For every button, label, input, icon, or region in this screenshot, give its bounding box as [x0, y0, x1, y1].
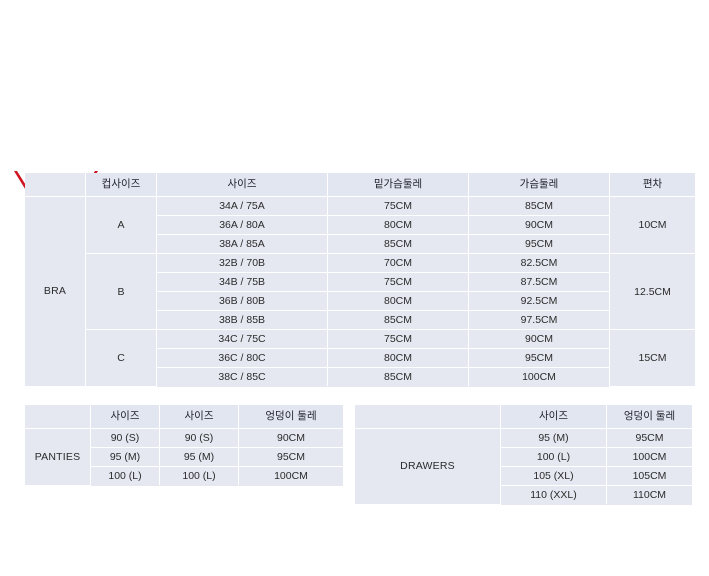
header-cell-bust: 가슴둘레: [469, 173, 610, 197]
hip-cell: 110CM: [607, 486, 693, 505]
underbust-cell: 80CM: [328, 349, 469, 368]
underbust-cell: 80CM: [328, 292, 469, 311]
size-b-cell: 90 (S): [160, 429, 239, 448]
header-cell-size-b: 사이즈: [160, 405, 239, 429]
table-row: C 34C / 75C 75CM 90CM 15CM: [25, 330, 695, 349]
underbust-cell: 75CM: [328, 330, 469, 349]
size-b-cell: 100 (L): [160, 467, 239, 486]
underbust-cell: 85CM: [328, 311, 469, 330]
hip-cell: 100CM: [607, 448, 693, 467]
hip-cell: 95CM: [607, 429, 693, 448]
bust-cell: 92.5CM: [469, 292, 610, 311]
hip-cell: 100CM: [239, 467, 344, 486]
bust-cell: 85CM: [469, 197, 610, 216]
bust-cell: 90CM: [469, 330, 610, 349]
page-header: GUESS ® U.S.A. ▲ ▲ ? BRA SIZE CHART GUES…: [0, 85, 709, 160]
table-header-row: 사이즈 사이즈 엉덩이 둘레: [25, 405, 343, 429]
header-cell-deviation: 편차: [610, 173, 696, 197]
size-cell: 38A / 85A: [157, 235, 328, 254]
table-row: DRAWERS 95 (M) 95CM: [355, 429, 692, 448]
size-b-cell: 95 (M): [160, 448, 239, 467]
header-cell-blank: [25, 173, 86, 197]
header-cell-size-a: 사이즈: [91, 405, 160, 429]
underbust-cell: 80CM: [328, 216, 469, 235]
size-cell: 38C / 85C: [157, 368, 328, 387]
table-row: PANTIES 90 (S) 90 (S) 90CM: [25, 429, 343, 448]
bust-cell: 90CM: [469, 216, 610, 235]
size-cell: 110 (XXL): [501, 486, 607, 505]
header-cell-hip: 엉덩이 둘레: [239, 405, 344, 429]
bust-cell: 100CM: [469, 368, 610, 387]
cup-cell-c: C: [86, 330, 157, 387]
size-cell: 34A / 75A: [157, 197, 328, 216]
underbust-cell: 75CM: [328, 273, 469, 292]
header-cell-size: 사이즈: [157, 173, 328, 197]
bust-cell: 87.5CM: [469, 273, 610, 292]
cup-cell-b: B: [86, 254, 157, 330]
table-row: BRA A 34A / 75A 75CM 85CM 10CM: [25, 197, 695, 216]
header-cell-underbust: 밑가슴둘레: [328, 173, 469, 197]
deviation-cell-b: 12.5CM: [610, 254, 696, 330]
drawers-size-table: 사이즈 엉덩이 둘레 DRAWERS 95 (M) 95CM 100 (L) 1…: [355, 405, 692, 505]
hip-cell: 90CM: [239, 429, 344, 448]
category-cell-drawers: DRAWERS: [355, 429, 501, 505]
size-cell: 36C / 80C: [157, 349, 328, 368]
size-a-cell: 90 (S): [91, 429, 160, 448]
size-cell: 34B / 75B: [157, 273, 328, 292]
size-cell: 34C / 75C: [157, 330, 328, 349]
underbust-cell: 85CM: [328, 368, 469, 387]
category-cell-bra: BRA: [25, 197, 86, 387]
size-a-cell: 95 (M): [91, 448, 160, 467]
underbust-cell: 85CM: [328, 235, 469, 254]
size-cell: 36B / 80B: [157, 292, 328, 311]
header-cell-cup-size: 컵사이즈: [86, 173, 157, 197]
cup-cell-a: A: [86, 197, 157, 254]
category-cell-panties: PANTIES: [25, 429, 91, 486]
bra-size-table: 컵사이즈 사이즈 밑가슴둘레 가슴둘레 편차 BRA A 34A / 75A 7…: [25, 173, 695, 387]
header-cell-hip: 엉덩이 둘레: [607, 405, 693, 429]
hip-cell: 105CM: [607, 467, 693, 486]
bust-cell: 95CM: [469, 235, 610, 254]
table-header-row: 컵사이즈 사이즈 밑가슴둘레 가슴둘레 편차: [25, 173, 695, 197]
size-cell: 100 (L): [501, 448, 607, 467]
header-cell-size: 사이즈: [501, 405, 607, 429]
size-cell: 38B / 85B: [157, 311, 328, 330]
size-cell: 36A / 80A: [157, 216, 328, 235]
size-cell: 105 (XL): [501, 467, 607, 486]
table-row: B 32B / 70B 70CM 82.5CM 12.5CM: [25, 254, 695, 273]
table-header-row: 사이즈 엉덩이 둘레: [355, 405, 692, 429]
underbust-cell: 75CM: [328, 197, 469, 216]
hip-cell: 95CM: [239, 448, 344, 467]
deviation-cell-c: 15CM: [610, 330, 696, 387]
size-cell: 32B / 70B: [157, 254, 328, 273]
panties-size-table: 사이즈 사이즈 엉덩이 둘레 PANTIES 90 (S) 90 (S) 90C…: [25, 405, 343, 486]
header-cell-blank: [355, 405, 501, 429]
bust-cell: 97.5CM: [469, 311, 610, 330]
bust-cell: 95CM: [469, 349, 610, 368]
size-a-cell: 100 (L): [91, 467, 160, 486]
size-cell: 95 (M): [501, 429, 607, 448]
header-cell-blank: [25, 405, 91, 429]
underbust-cell: 70CM: [328, 254, 469, 273]
bust-cell: 82.5CM: [469, 254, 610, 273]
deviation-cell-a: 10CM: [610, 197, 696, 254]
